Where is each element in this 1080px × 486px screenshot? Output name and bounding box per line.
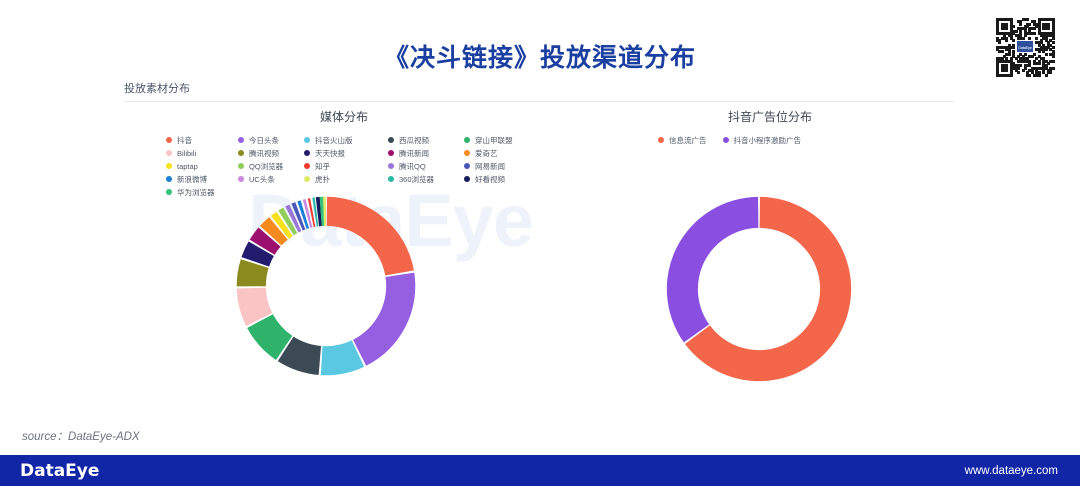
legend-item[interactable]: 360浏览器 [388, 173, 464, 185]
qr-module [1028, 74, 1031, 77]
legend-color-dot [304, 150, 310, 156]
legend-item[interactable]: 知乎 [304, 160, 388, 172]
footer-url[interactable]: www.dataeye.com [965, 465, 1058, 477]
legend-label: Bilibili [177, 149, 196, 158]
legend-label: 抖音小程序激励广告 [734, 135, 802, 146]
legend-color-dot [304, 137, 310, 143]
legend-item[interactable]: 信息流广告 [658, 134, 707, 146]
qr-module [1005, 27, 1008, 30]
legend-color-dot [238, 163, 244, 169]
legend-label: 网易新闻 [475, 161, 505, 172]
legend-label: 信息流广告 [669, 135, 707, 146]
legend-label: 腾讯QQ [399, 161, 426, 172]
legend-item[interactable]: 虎扑 [304, 173, 388, 185]
legend-item[interactable]: 穿山甲联盟 [464, 134, 544, 146]
qr-module [1026, 18, 1029, 21]
legend-label: 穿山甲联盟 [475, 135, 513, 146]
legend-ad-placement: 信息流广告 抖音小程序激励广告 [658, 134, 801, 147]
legend-item[interactable]: UC头条 [238, 173, 304, 185]
legend-color-dot [464, 176, 470, 182]
legend-item[interactable]: 抖音火山版 [304, 134, 388, 146]
source-note: source：DataEye-ADX [22, 428, 140, 444]
legend-label: 腾讯新闻 [399, 148, 429, 159]
legend-color-dot [723, 137, 729, 143]
ad-placement-donut[interactable] [662, 192, 856, 386]
legend-label: 西瓜视频 [399, 135, 429, 146]
footer-logo: DataEye [20, 461, 99, 481]
legend-color-dot [238, 137, 244, 143]
legend-label: 腾讯视频 [249, 148, 279, 159]
legend-column-4: 西瓜视频 腾讯新闻 腾讯QQ 360浏览器 [388, 134, 464, 199]
legend-color-dot [166, 176, 172, 182]
donut-slice[interactable] [353, 273, 415, 366]
qr-module [1038, 74, 1041, 77]
legend-item[interactable]: 网易新闻 [464, 160, 544, 172]
footer-bar: DataEye www.dataeye.com [0, 455, 1080, 486]
legend-item[interactable]: 腾讯QQ [388, 160, 464, 172]
qr-module [1010, 74, 1013, 77]
qr-module [1033, 27, 1036, 30]
donut-slice[interactable] [667, 197, 759, 343]
legend-item[interactable]: 好看视频 [464, 173, 544, 185]
legend-label: QQ浏览器 [249, 161, 283, 172]
chart-title-ad-placement: 抖音广告位分布 [620, 108, 920, 125]
legend-item[interactable]: 华为浏览器 [166, 186, 238, 198]
legend-label: 华为浏览器 [177, 187, 215, 198]
legend-color-dot [166, 189, 172, 195]
legend-color-dot [238, 176, 244, 182]
legend-color-dot [388, 163, 394, 169]
legend-color-dot [464, 137, 470, 143]
page-title: 《决斗链接》投放渠道分布 [0, 38, 1080, 74]
qr-module [1047, 27, 1050, 30]
legend-item[interactable]: 腾讯新闻 [388, 147, 464, 159]
qr-module [1019, 23, 1022, 26]
legend-label: taptap [177, 162, 198, 171]
legend-item[interactable]: 新浪微博 [166, 173, 238, 185]
section-label: 投放素材分布 [124, 80, 190, 96]
legend-color-dot [388, 150, 394, 156]
donut-chart-media-svg [232, 192, 420, 380]
legend-item[interactable]: 腾讯视频 [238, 147, 304, 159]
legend-label: 天天快报 [315, 148, 345, 159]
legend-item[interactable]: 抖音小程序激励广告 [723, 134, 802, 146]
legend-color-dot [388, 176, 394, 182]
legend-item[interactable]: 今日头条 [238, 134, 304, 146]
legend-item[interactable]: 天天快报 [304, 147, 388, 159]
donut-slice[interactable] [327, 197, 414, 276]
legend-label: 抖音火山版 [315, 135, 353, 146]
legend-item[interactable]: Bilibili [166, 147, 238, 159]
legend-column-5: 穿山甲联盟 爱奇艺 网易新闻 好看视频 [464, 134, 544, 199]
legend-item[interactable]: 抖音 [166, 134, 238, 146]
legend-label: 360浏览器 [399, 174, 434, 185]
legend-label: 爱奇艺 [475, 148, 498, 159]
qr-module [1045, 74, 1048, 77]
legend-color-dot [304, 163, 310, 169]
media-distribution-panel: 媒体分布 抖音 Bilibili taptap 新浪微博 [124, 108, 584, 408]
legend-item[interactable]: QQ浏览器 [238, 160, 304, 172]
legend-color-dot [166, 150, 172, 156]
divider [124, 101, 954, 102]
legend-color-dot [166, 137, 172, 143]
legend-color-dot [238, 150, 244, 156]
qr-module [1033, 32, 1036, 35]
legend-label: 知乎 [315, 161, 330, 172]
legend-item[interactable]: 爱奇艺 [464, 147, 544, 159]
legend-media: 抖音 Bilibili taptap 新浪微博 华为浏览器 [166, 134, 544, 199]
legend-color-dot [464, 150, 470, 156]
legend-color-dot [464, 163, 470, 169]
slide-canvas: DataEye 《决斗链接》投放渠道分布 投放素材分布 DataEye 媒体分布… [0, 0, 1080, 486]
legend-color-dot [166, 163, 172, 169]
legend-label: 今日头条 [249, 135, 279, 146]
legend-label: 好看视频 [475, 174, 505, 185]
legend-color-dot [388, 137, 394, 143]
legend-label: 抖音 [177, 135, 192, 146]
legend-column-2: 今日头条 腾讯视频 QQ浏览器 UC头条 [238, 134, 304, 199]
douyin-ad-placement-panel: 抖音广告位分布 信息流广告 抖音小程序激励广告 [600, 108, 960, 408]
legend-item[interactable]: taptap [166, 160, 238, 172]
media-distribution-donut[interactable] [232, 192, 420, 380]
legend-column-3: 抖音火山版 天天快报 知乎 虎扑 [304, 134, 388, 199]
legend-column-1: 抖音 Bilibili taptap 新浪微博 华为浏览器 [166, 134, 238, 199]
legend-color-dot [304, 176, 310, 182]
legend-item[interactable]: 西瓜视频 [388, 134, 464, 146]
legend-color-dot [658, 137, 664, 143]
legend-label: 新浪微博 [177, 174, 207, 185]
donut-chart-ad-placement-svg [662, 192, 856, 386]
legend-label: UC头条 [249, 174, 275, 185]
legend-label: 虎扑 [315, 174, 330, 185]
chart-title-media: 媒体分布 [134, 108, 554, 125]
